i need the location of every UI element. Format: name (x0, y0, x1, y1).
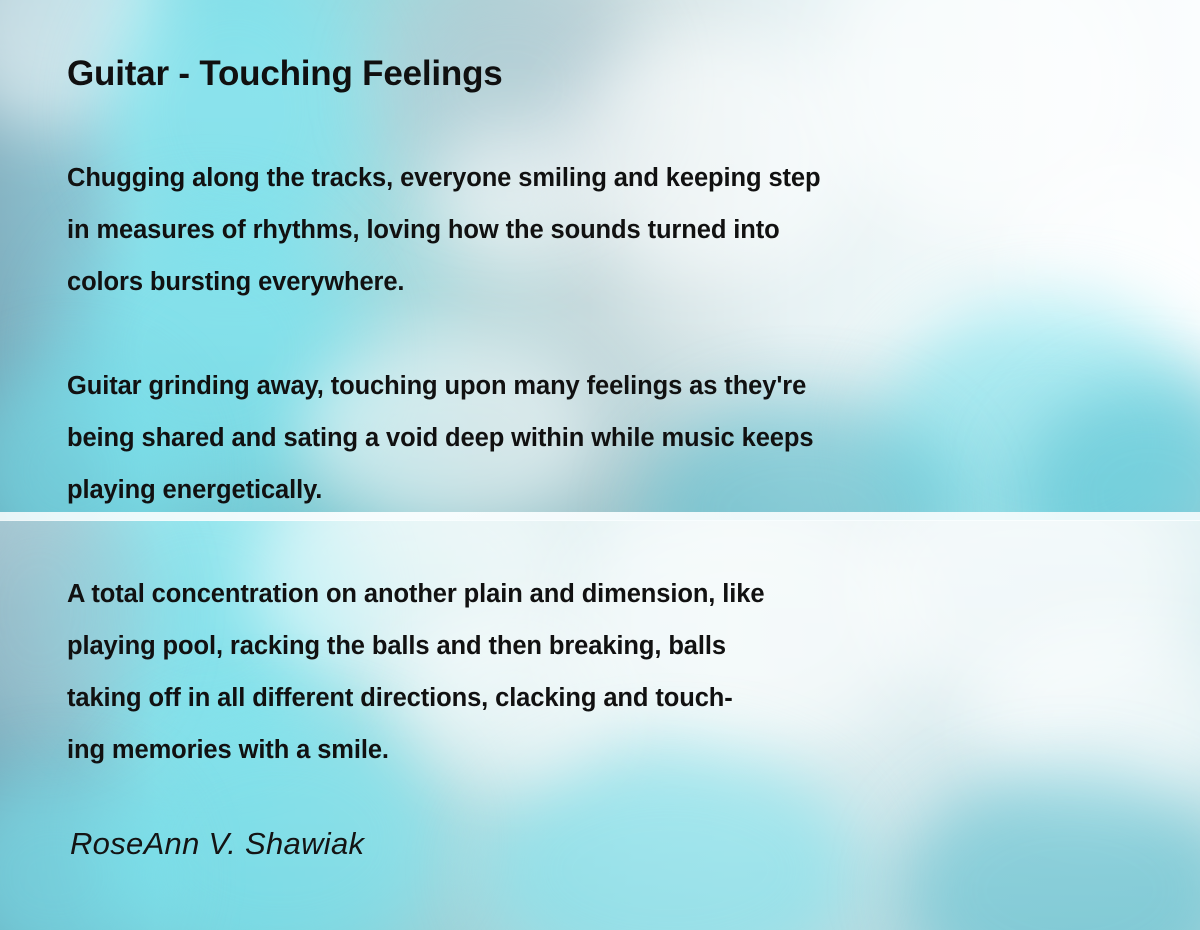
author-byline: RoseAnn V. Shawiak (70, 826, 364, 862)
poem-card: Guitar - Touching Feelings Chugging alon… (0, 0, 1200, 930)
poem-line: A total concentration on another plain a… (67, 568, 764, 620)
poem-line: Chugging along the tracks, everyone smil… (67, 152, 821, 204)
poem-line: colors bursting everywhere. (67, 256, 821, 308)
poem-line: playing energetically. (67, 464, 813, 516)
poem-content: Guitar - Touching Feelings Chugging alon… (0, 0, 1200, 930)
poem-line: ing memories with a smile. (67, 724, 764, 776)
poem-line: taking off in all different directions, … (67, 672, 764, 724)
poem-stanza: Chugging along the tracks, everyone smil… (67, 152, 821, 308)
poem-line: being shared and sating a void deep with… (67, 412, 813, 464)
poem-stanza: Guitar grinding away, touching upon many… (67, 360, 813, 516)
poem-stanza: A total concentration on another plain a… (67, 568, 764, 776)
poem-line: in measures of rhythms, loving how the s… (67, 204, 821, 256)
poem-line: Guitar grinding away, touching upon many… (67, 360, 813, 412)
poem-line: playing pool, racking the balls and then… (67, 620, 764, 672)
page-title: Guitar - Touching Feelings (67, 54, 503, 94)
